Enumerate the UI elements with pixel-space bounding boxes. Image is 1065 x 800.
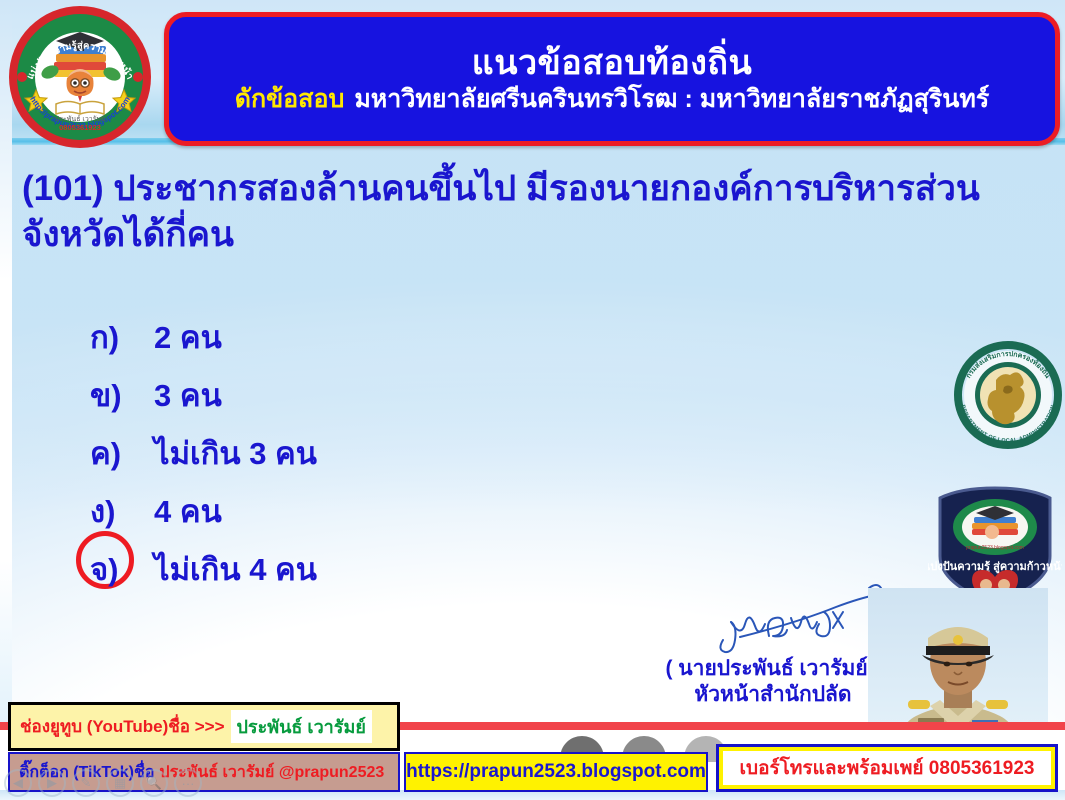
previous-slide-icon[interactable]: ◀ [4,769,32,797]
choice-key: ค) [90,428,154,478]
presentation-nav-bar[interactable]: ◀ ▶ ✎ ▦ 🔍 ··· [4,768,204,798]
phone-banner[interactable]: เบอร์โทรและพร้อมเพย์ 0805361923 [716,744,1058,792]
zoom-icon[interactable]: 🔍 [140,769,168,797]
blog-url: https://prapun2523.blogspot.com [406,761,706,783]
more-options-icon[interactable]: ··· [174,769,202,797]
youtube-channel-name: ประพันธ์ เวารัมย์ [231,710,372,743]
answer-choice-ngo[interactable]: ง) 4 คน [90,486,790,544]
choice-value: 4 คน [154,486,222,536]
header-subtitle-rest: มหาวิทยาลัยศรีนครินทรวิโรฒ : มหาวิทยาลัย… [354,86,989,112]
choice-value: ไม่เกิน 4 คน [154,544,317,594]
header-title: แนวข้อสอบท้องถิ่น [472,46,752,82]
svg-text:prapun2523.blogspot.com: prapun2523.blogspot.com [966,545,1024,551]
brand-logo-graphic: แบ่งปันความรู้สู่ความก้าวหน้า http://pra… [6,4,154,150]
pen-icon[interactable]: ✎ [72,769,100,797]
header-subtitle: ดักข้อสอบ มหาวิทยาลัยศรีนครินทรวิโรฒ : ม… [235,86,990,112]
svg-text:0805361923: 0805361923 [59,123,101,132]
answer-choice-list: ก) 2 คน ข) 3 คน ค) ไม่เกิน 3 คน ง) 4 คน … [90,312,790,602]
phone-text: เบอร์โทรและพร้อมเพย์ 0805361923 [740,753,1035,783]
slide-grid-icon[interactable]: ▦ [106,769,134,797]
choice-key: ก) [90,312,154,362]
slide-canvas: แบ่งปันความรู้สู่ความก้าวหน้า http://pra… [0,0,1065,800]
answer-choice-kho[interactable]: ข) 3 คน [90,370,790,428]
choice-key: ง) [90,486,154,536]
blog-url-banner[interactable]: https://prapun2523.blogspot.com [404,752,708,792]
brand-logo: แบ่งปันความรู้สู่ความก้าวหน้า http://pra… [6,4,154,150]
header-subtitle-highlight: ดักข้อสอบ [235,86,345,112]
answer-choice-ka[interactable]: ก) 2 คน [90,312,790,370]
dla-emblem-icon: กรมส่งเสริมการปกครองท้องถิ่น DEPARTMENT … [952,332,1064,458]
svg-text:ประพันธ์ เวารัมย์: ประพันธ์ เวารัมย์ [55,115,105,123]
youtube-banner[interactable]: ช่องยูทูบ (YouTube)ชื่อ >>> ประพันธ์ เวา… [8,702,400,751]
choice-value: 3 คน [154,370,222,420]
phone-banner-inner: เบอร์โทรและพร้อมเพย์ 0805361923 [723,751,1051,785]
next-slide-icon[interactable]: ▶ [38,769,66,797]
youtube-label: ช่องยูทูบ (YouTube)ชื่อ >>> [20,713,225,740]
svg-text:แบ่งปันความรู้ สู่ความก้าวหน้: แบ่งปันความรู้ สู่ความก้าวหน้า [928,560,1062,574]
header-banner: แนวข้อสอบท้องถิ่น ดักข้อสอบ มหาวิทยาลัยศ… [164,12,1060,146]
choice-value: ไม่เกิน 3 คน [154,428,317,478]
answer-choice-kho2[interactable]: ค) ไม่เกิน 3 คน [90,428,790,486]
choice-value: 2 คน [154,312,222,362]
question-text: (101) ประชากรสองล้านคนขึ้นไป มีรองนายกอง… [22,166,1032,257]
choice-key: ข) [90,370,154,420]
choice-key-circled: จ) [90,544,154,594]
